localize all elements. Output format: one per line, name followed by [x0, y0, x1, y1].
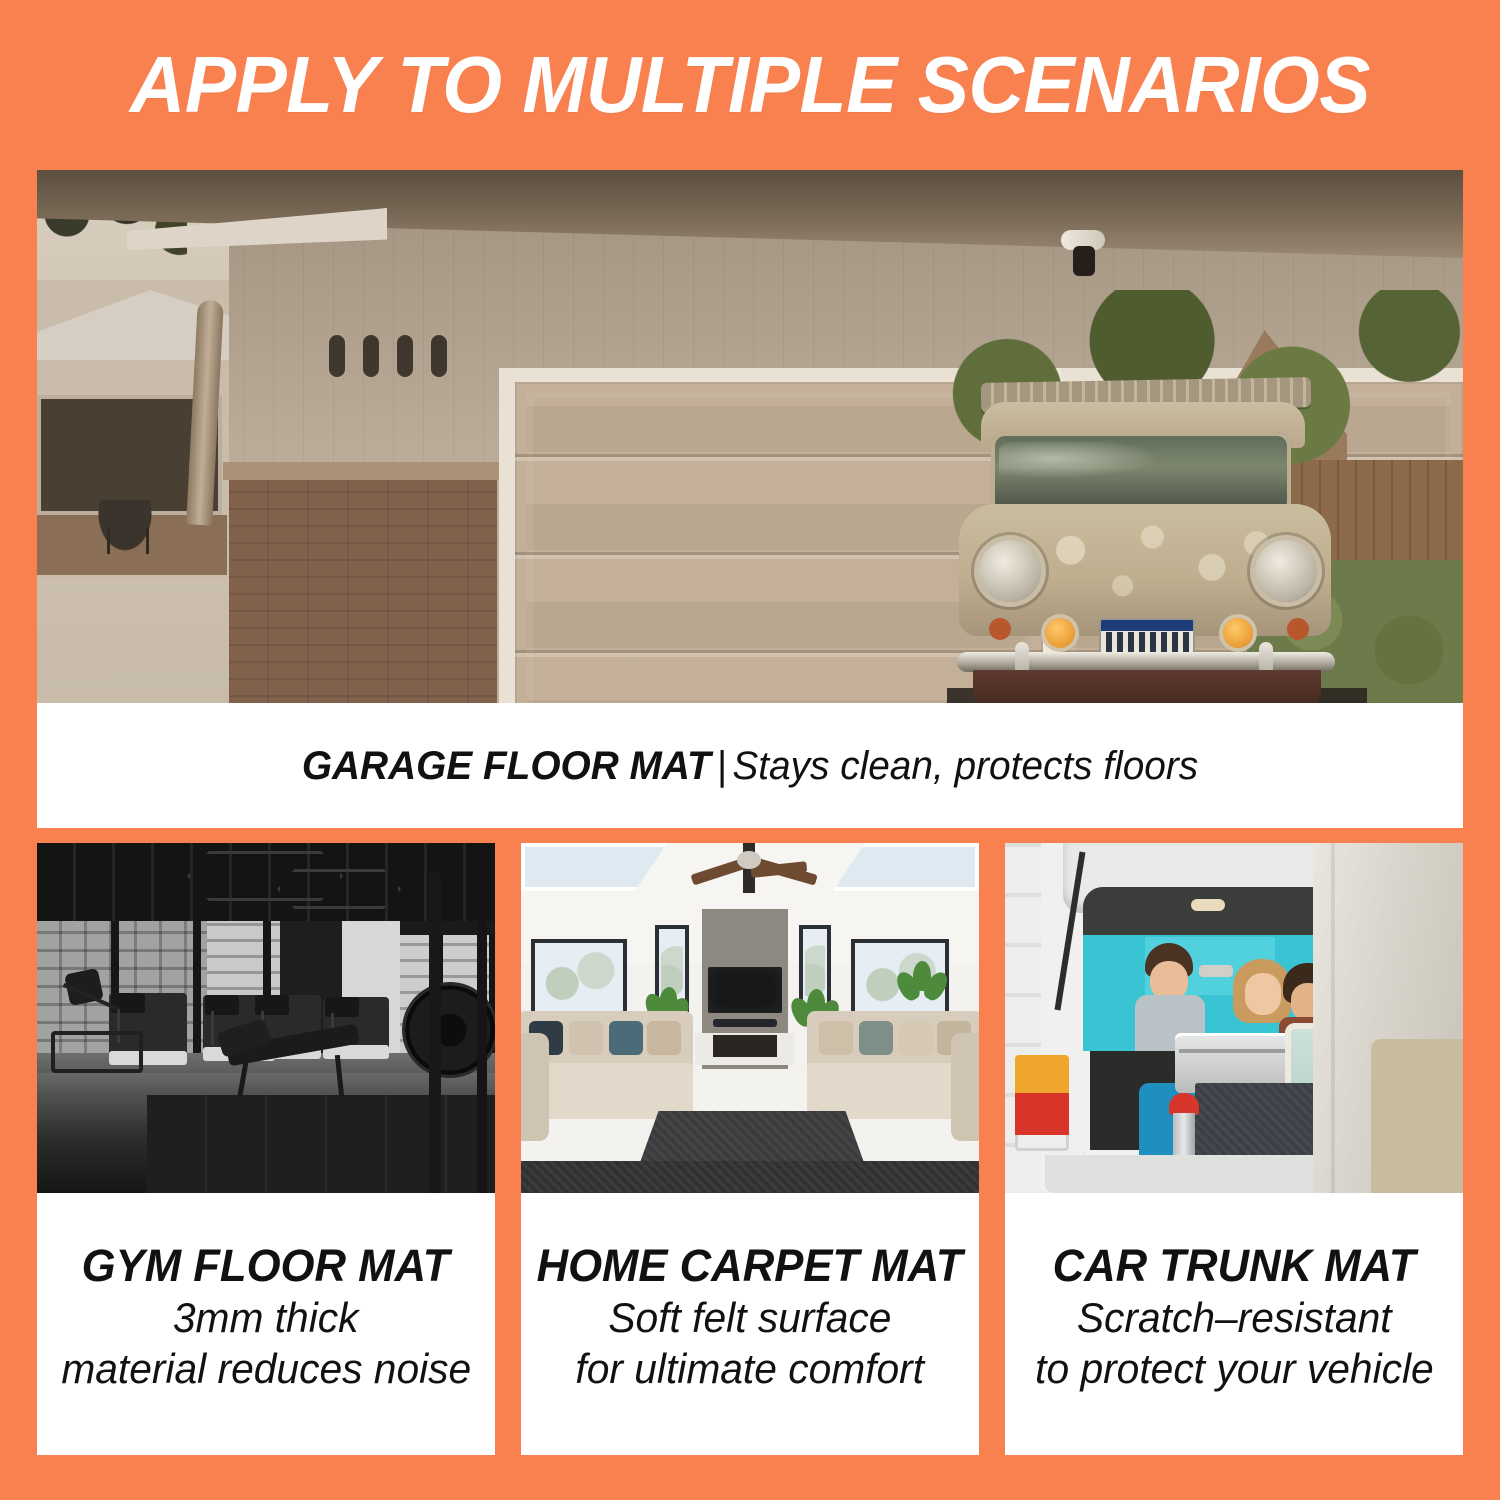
throw-pillow: [819, 1021, 853, 1055]
bench-leg: [335, 1055, 344, 1097]
car-lower-body: [973, 670, 1321, 703]
weight-bench: [219, 1025, 367, 1101]
home-caption-line2: for ultimate comfort: [576, 1343, 925, 1394]
house-number-plaque: [329, 335, 489, 377]
treadmill-rail: [211, 1011, 214, 1045]
turn-signal-left: [1045, 618, 1075, 648]
person-leg: [1371, 1039, 1463, 1193]
header-banner: APPLY TO MULTIPLE SCENARIOS: [0, 0, 1500, 170]
window-foliage: [537, 945, 621, 1009]
throw-pillow: [899, 1021, 933, 1055]
throw-pillow: [647, 1021, 681, 1055]
woman-face: [1245, 973, 1281, 1015]
dome-light-icon: [1191, 899, 1225, 911]
license-plate: [1099, 618, 1195, 654]
license-plate-number: [1101, 632, 1193, 654]
trunk-caption-line1: Scratch–resistant: [1077, 1292, 1392, 1343]
home-caption-line1: Soft felt surface: [608, 1292, 891, 1343]
tail-light-amber: [1015, 1055, 1069, 1093]
gym-caption-line1: 3mm thick: [173, 1292, 359, 1343]
elliptical-base: [51, 1031, 143, 1073]
house-number-digit: [431, 335, 447, 377]
home-caption-block: HOME CARPET MAT Soft felt surface for ul…: [521, 1193, 979, 1455]
security-light-icon: [1061, 222, 1107, 280]
living-room-interior: [521, 843, 979, 1193]
vintage-car: [937, 380, 1357, 703]
trunk-headliner: [1083, 887, 1345, 939]
product-infographic: APPLY TO MULTIPLE SCENARIOS: [0, 0, 1500, 1500]
house-number-digit: [329, 335, 345, 377]
living-room-window: [531, 939, 627, 1015]
gym-interior: [37, 843, 495, 1193]
scenario-panel-home: HOME CARPET MAT Soft felt surface for ul…: [521, 843, 979, 1455]
squat-rack-upright: [477, 863, 487, 1193]
throw-pillow: [859, 1021, 893, 1055]
car-area: [867, 290, 1463, 703]
turn-signal-right: [1223, 618, 1253, 648]
trunk-caption-head: CAR TRUNK MAT: [1053, 1240, 1416, 1292]
child-left: [1135, 943, 1205, 1045]
house-number-digit: [363, 335, 379, 377]
house-number-digit: [397, 335, 413, 377]
featured-caption-head: GARAGE FLOOR MAT: [302, 744, 711, 788]
sofa-arm: [951, 1033, 979, 1141]
car-trunk-scene-photo: [1005, 843, 1463, 1193]
headlight-right: [1255, 540, 1317, 602]
sofa-arm: [521, 1033, 549, 1141]
home-caption-head: HOME CARPET MAT: [537, 1240, 963, 1292]
car-trunk-mat: [1195, 1083, 1315, 1157]
soundbar: [713, 1019, 777, 1027]
squat-rack-upright: [429, 873, 441, 1193]
side-marker-right: [1287, 618, 1309, 640]
brick-column: [229, 470, 497, 703]
lantern-glass: [1173, 1113, 1195, 1157]
windshield: [991, 432, 1291, 510]
license-plate-state-band: [1101, 620, 1193, 631]
featured-caption: GARAGE FLOOR MAT|Stays clean, protects f…: [302, 746, 1198, 786]
gym-scene-photo: [37, 843, 495, 1193]
ceiling-fan-hub: [737, 851, 761, 869]
living-room-scene-photo: [521, 843, 979, 1193]
patio-chair: [95, 500, 155, 555]
side-marker-left: [989, 618, 1011, 640]
tail-light: [1015, 1055, 1069, 1151]
camping-lantern: [1167, 1093, 1201, 1157]
gym-caption-head: GYM FLOOR MAT: [82, 1240, 450, 1292]
trunk-caption-block: CAR TRUNK MAT Scratch–resistant to prote…: [1005, 1193, 1463, 1455]
gym-rubber-mat: [147, 1095, 495, 1193]
page-title: APPLY TO MULTIPLE SCENARIOS: [130, 45, 1370, 125]
gym-caption-block: GYM FLOOR MAT 3mm thick material reduces…: [37, 1193, 495, 1455]
headlight-left: [979, 540, 1041, 602]
fireplace-opening: [713, 1035, 777, 1057]
brick-cap: [223, 462, 505, 480]
wall-mounted-tv: [708, 967, 782, 1013]
chrome-bumper: [957, 652, 1335, 672]
lantern-top: [1169, 1093, 1199, 1115]
trunk-opening: [1083, 887, 1345, 1157]
throw-pillow: [609, 1021, 643, 1055]
gym-hex-light: [277, 869, 401, 909]
tail-light-red: [1015, 1093, 1069, 1135]
featured-panel: GARAGE FLOOR MAT|Stays clean, protects f…: [37, 170, 1463, 828]
scenario-panel-trunk: CAR TRUNK MAT Scratch–resistant to prote…: [1005, 843, 1463, 1455]
featured-caption-divider: |: [711, 744, 733, 788]
featured-caption-strip: GARAGE FLOOR MAT|Stays clean, protects f…: [37, 703, 1463, 828]
gym-caption-line2: material reduces noise: [61, 1343, 471, 1394]
scenario-panel-gym: GYM FLOOR MAT 3mm thick material reduces…: [37, 843, 495, 1455]
charcoal-carpet-mat-foreground: [521, 1161, 979, 1193]
throw-pillow: [569, 1021, 603, 1055]
featured-caption-sub: Stays clean, protects floors: [732, 744, 1198, 788]
trunk-caption-line2: to protect your vehicle: [1035, 1343, 1434, 1394]
suv-trunk-scene: [1005, 843, 1463, 1193]
garage-scene-photo: [37, 170, 1463, 703]
elliptical-machine: [51, 971, 135, 1066]
